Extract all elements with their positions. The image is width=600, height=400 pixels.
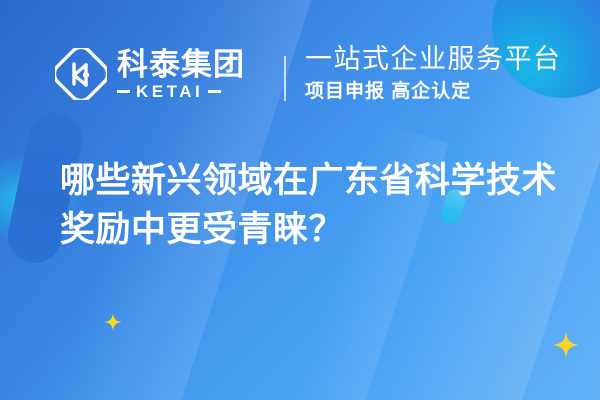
tagline-sub: 项目申报 高企认定 xyxy=(305,80,562,104)
sparkle-star-large xyxy=(553,331,579,359)
wordmark-dash-right xyxy=(208,90,221,93)
wordmark-dash-left xyxy=(117,90,130,93)
brand-name-cn: 科泰集团 xyxy=(117,48,245,81)
brand-name-en: KETAI xyxy=(130,83,208,101)
brand-logo[interactable]: 科泰集团 KETAI xyxy=(55,36,245,112)
header-divider xyxy=(284,56,286,101)
promo-banner: 科泰集团 KETAI 一站式企业服务平台 项目申报 高企认定 哪些新兴领域在广东… xyxy=(0,0,600,400)
tagline-block: 一站式企业服务平台 项目申报 高企认定 xyxy=(305,44,562,104)
ketai-kd-monogram-icon xyxy=(55,48,107,100)
brand-wordmark: 科泰集团 KETAI xyxy=(117,48,245,101)
page-title: 哪些新兴领域在广东省科学技术奖励中更受青睐？ xyxy=(60,156,575,254)
brand-name-en-row: KETAI xyxy=(117,83,245,101)
sparkle-star-small xyxy=(104,313,122,331)
tagline-main: 一站式企业服务平台 xyxy=(305,44,562,75)
